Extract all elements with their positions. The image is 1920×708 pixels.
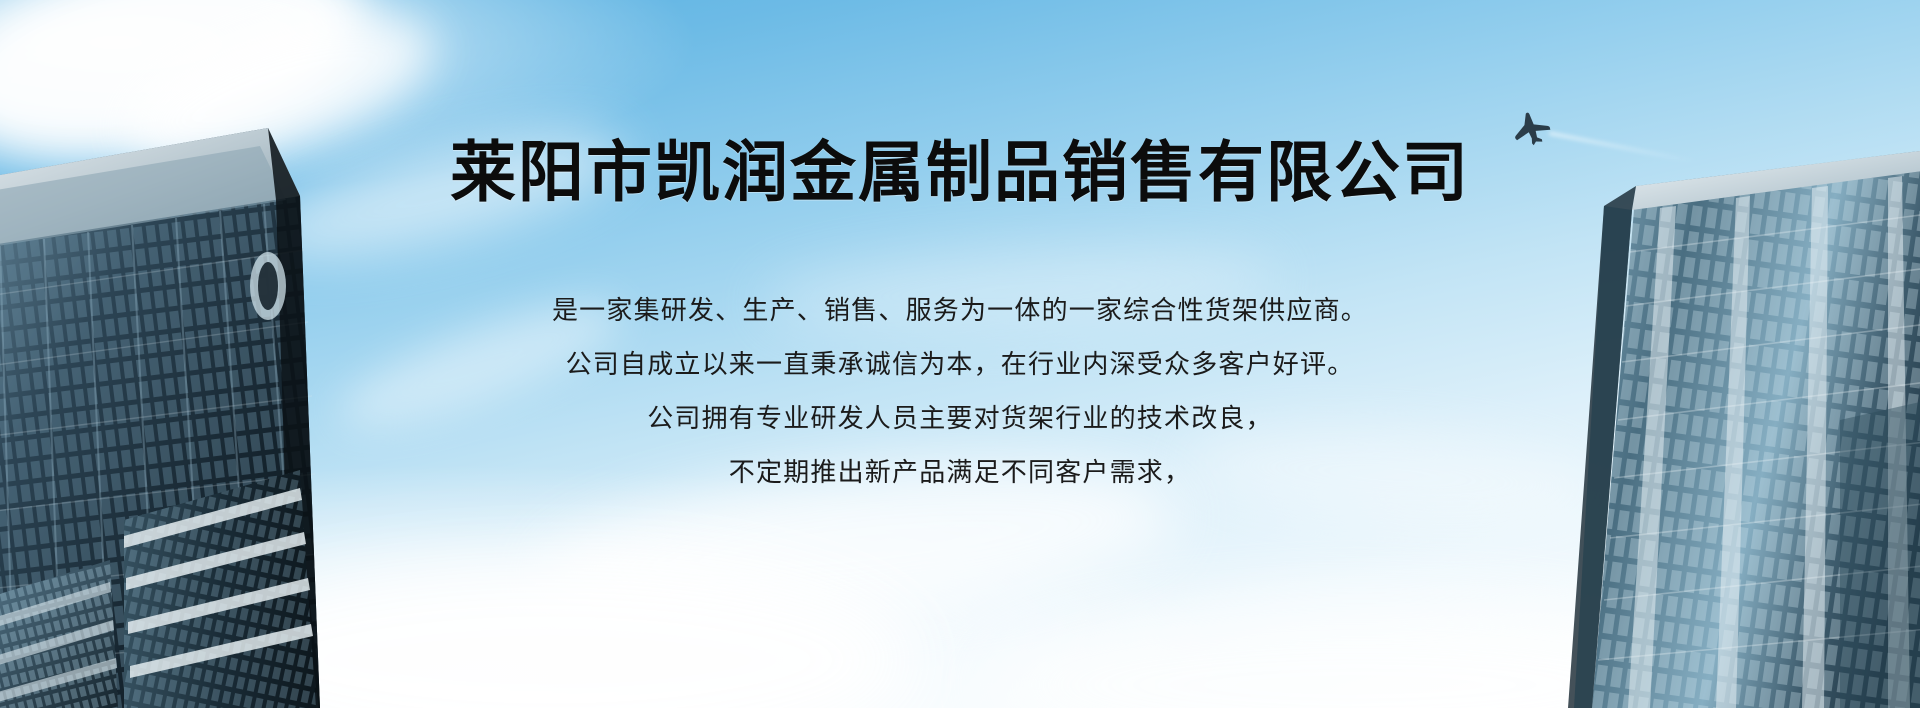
banner-text-content: 莱阳市凯润金属制品销售有限公司 是一家集研发、生产、销售、服务为一体的一家综合性… [0, 0, 1920, 708]
description-line: 是一家集研发、生产、销售、服务为一体的一家综合性货架供应商。 [0, 298, 1920, 324]
company-description: 是一家集研发、生产、销售、服务为一体的一家综合性货架供应商。 公司自成立以来一直… [0, 298, 1920, 486]
company-intro-banner: 莱阳市凯润金属制品销售有限公司 是一家集研发、生产、销售、服务为一体的一家综合性… [0, 0, 1920, 708]
page-title: 莱阳市凯润金属制品销售有限公司 [0, 140, 1920, 206]
description-line: 不定期推出新产品满足不同客户需求， [0, 460, 1920, 486]
description-line: 公司拥有专业研发人员主要对货架行业的技术改良， [0, 406, 1920, 432]
description-line: 公司自成立以来一直秉承诚信为本，在行业内深受众多客户好评。 [0, 352, 1920, 378]
